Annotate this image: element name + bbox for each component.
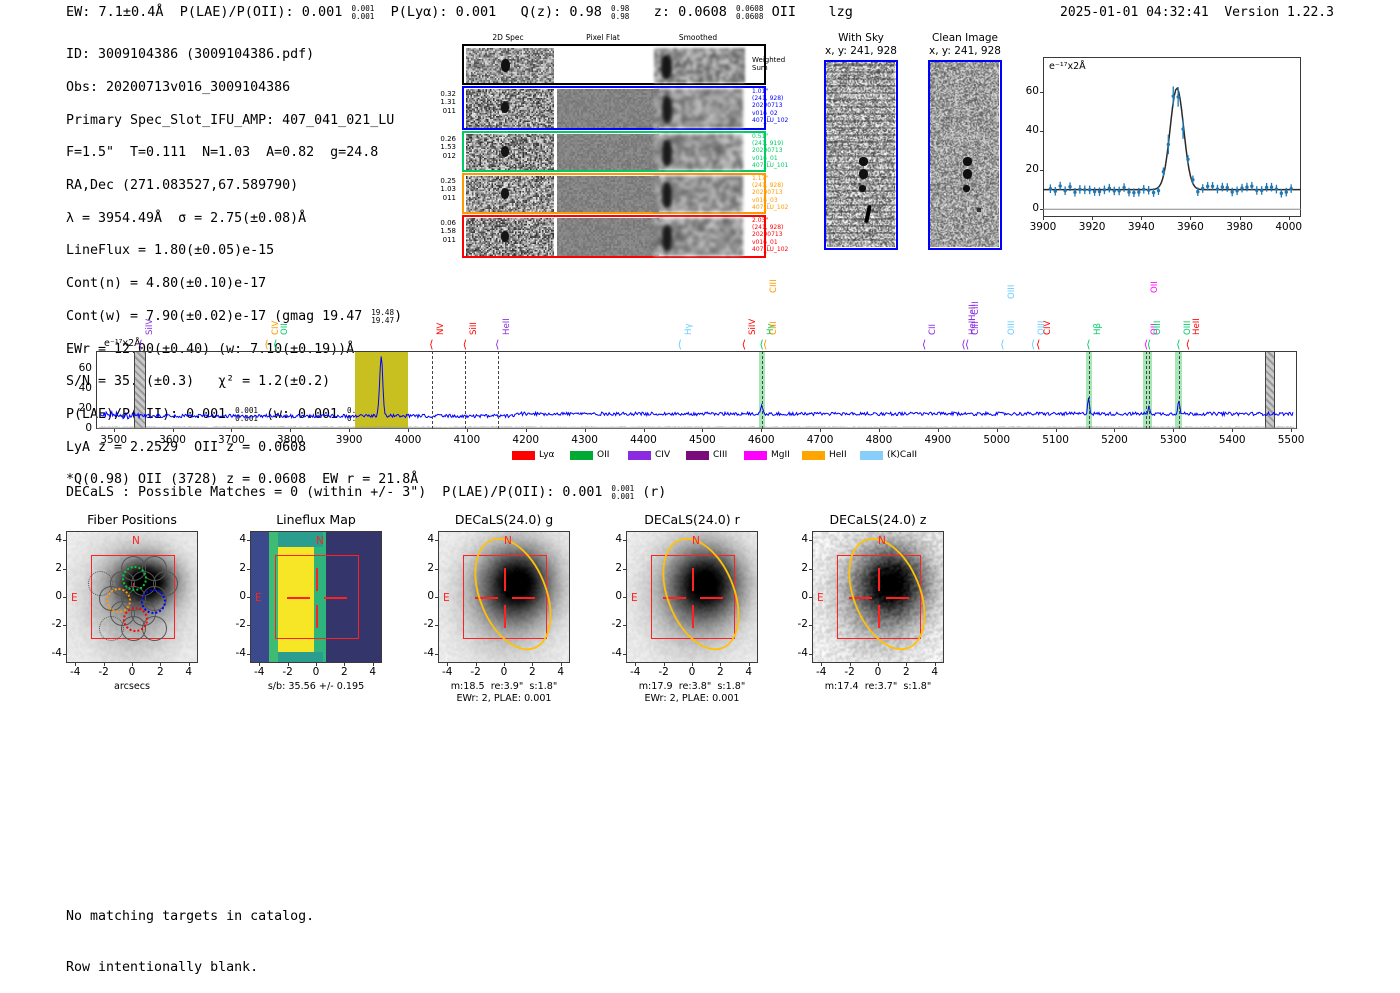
header-summary: EW: 7.1±0.4Å P(LAE)/P(OII): 0.001 0.0010… xyxy=(66,4,853,21)
spectrum-xtick-3800: 3800 xyxy=(264,434,316,446)
spec2d-column-title-3: Smoothed xyxy=(658,33,738,42)
spectrum-line-marker-OIII-18 xyxy=(1149,351,1150,429)
spectrum-line-label-high-HeII-4: HeII xyxy=(968,304,978,321)
decals-ytickmark xyxy=(623,569,626,570)
decals-ytickmark xyxy=(247,654,250,655)
sky-line xyxy=(826,204,896,206)
linefit-xtickmark xyxy=(1240,217,1241,220)
decals-panel-frame-1 xyxy=(66,531,198,663)
gmag-fraction: 19.4819.47 xyxy=(371,309,394,324)
spectrum-xtick-3500: 3500 xyxy=(88,434,140,446)
spec2d-raw-1 xyxy=(466,89,554,128)
decals-ytick-4-0: 4 xyxy=(602,533,622,545)
spectrum-line-label-Hγ-6: Hγ xyxy=(684,323,694,335)
linefit-xtick-3960: 3960 xyxy=(1166,221,1214,233)
decals-ytickmark xyxy=(435,654,438,655)
spec2d-emission-raw-1 xyxy=(501,102,509,113)
sky-line xyxy=(826,113,896,115)
decals-xtick-3-2: 0 xyxy=(488,666,520,678)
spectrum-xtickmark xyxy=(820,429,821,432)
decals-ytick-5-0: 4 xyxy=(788,533,808,545)
decals-compass-n-2: N xyxy=(316,535,324,547)
fiber-circle-14 xyxy=(99,616,124,641)
decals-ytickmark xyxy=(63,597,66,598)
decals-caption1-5: m:17.4 re:3.7" s:1.8" xyxy=(772,681,984,693)
spectrum-xtickmark xyxy=(938,429,939,432)
legend-swatch-OII xyxy=(570,451,593,460)
spectrum-xtickmark xyxy=(467,429,468,432)
cutout-title-2: Clean Image x, y: 241, 928 xyxy=(898,32,1032,57)
spectrum-xtickmark xyxy=(644,429,645,432)
spectrum-line-bracket: ⟨ xyxy=(428,338,435,351)
sky-line xyxy=(826,106,896,108)
cutout-emission-1-2 xyxy=(859,169,868,179)
linefit-xtickmark xyxy=(1043,217,1044,220)
info-radec: RA,Dec (271.083527,67.589790) xyxy=(66,178,418,194)
decals-ytick-5-3: -2 xyxy=(788,618,808,630)
sky-line xyxy=(826,225,896,227)
decals-caption2-3: EWr: 2, PLAE: 0.001 xyxy=(398,693,610,705)
spectrum-line-marker-OII-17 xyxy=(1146,351,1147,429)
cutout-frame-1 xyxy=(824,60,898,250)
spectrum-xtickmark xyxy=(761,429,762,432)
decals-compass-n-3: N xyxy=(504,535,512,547)
sky-line xyxy=(826,141,896,143)
decals-panel-title-2: Lineflux Map xyxy=(224,512,408,527)
spectrum-line-label-HeII-20: HeII xyxy=(1192,318,1202,335)
decals-ytick-3-2: 0 xyxy=(414,590,434,602)
spectrum-xtickmark xyxy=(1173,429,1174,432)
spectrum-ytick-0: 0 xyxy=(66,422,92,434)
spectrum-xtick-5100: 5100 xyxy=(1030,434,1082,446)
decals-xtickmark xyxy=(344,663,345,666)
decals-panel-title-4: DECaLS(24.0) r xyxy=(600,512,784,527)
spectrum-xtick-5200: 5200 xyxy=(1088,434,1140,446)
header-classification: OII lzg xyxy=(763,4,852,20)
sky-line xyxy=(826,148,896,150)
spectrum-xtickmark xyxy=(1114,429,1115,432)
decals-xtick-4-4: 4 xyxy=(733,666,765,678)
decals-xtick-5-4: 4 xyxy=(919,666,951,678)
spectrum-line-bracket: ⟨ xyxy=(494,338,501,351)
spectrum-ytick-60: 60 xyxy=(66,362,92,374)
spec2d-row-stats-4: 0.06 1.58 011 xyxy=(412,219,456,244)
decals-ytickmark xyxy=(809,597,812,598)
spec2d-column-title-1: 2D Spec xyxy=(468,33,548,42)
spec2d-weighted-sum-row xyxy=(462,44,766,85)
linefit-xtickmark xyxy=(1190,217,1191,220)
decals-ytick-2-1: 2 xyxy=(226,562,246,574)
spectrum-line-bracket: ⟨ xyxy=(677,338,684,351)
info-lambda-sigma: λ = 3954.49Å σ = 2.75(±0.08)Å xyxy=(66,211,418,227)
spectrum-line-bracket: ⟨ xyxy=(921,338,928,351)
sky-line xyxy=(826,134,896,136)
spectrum-line-label-SiII-4: SiII xyxy=(469,322,479,335)
decals-xtick-4-0: -4 xyxy=(619,666,651,678)
decals-xtick-5-3: 2 xyxy=(890,666,922,678)
decals-ytickmark xyxy=(623,625,626,626)
decals-xtick-1-2: 0 xyxy=(116,666,148,678)
spec2d-row-stats-3: 0.25 1.03 011 xyxy=(412,177,456,202)
spectrum-line-bracket: ⟨ xyxy=(999,338,1006,351)
decals-ytick-1-3: -2 xyxy=(42,618,62,630)
spectrum-xtick-3900: 3900 xyxy=(323,434,375,446)
spec2d-fiber-row-1 xyxy=(462,86,766,130)
spectrum-line-marker-OIII-19 xyxy=(1179,351,1180,429)
decals-ytickmark xyxy=(809,625,812,626)
decals-panel-title-5: DECaLS(24.0) z xyxy=(786,512,970,527)
decals-ytick-1-1: 2 xyxy=(42,562,62,574)
info-params: F=1.5" T=0.111 N=1.03 A=0.82 g=24.8 xyxy=(66,145,418,161)
spectrum-line-label-NV-3: NV xyxy=(436,323,446,335)
spec2d-raw-3 xyxy=(466,176,554,212)
decals-compass-e-4: E xyxy=(631,592,638,604)
decals-xtick-2-4: 4 xyxy=(357,666,389,678)
decals-ytickmark xyxy=(435,569,438,570)
spectrum-line-bracket: ⟨ xyxy=(1175,338,1182,351)
decals-caption1-1: arcsecs xyxy=(26,681,238,693)
spectrum-line-label-SiIV-7: SiIV xyxy=(748,319,758,335)
decals-xtickmark xyxy=(561,663,562,666)
footer-line-2: Row intentionally blank. xyxy=(66,959,314,976)
spectrum-xtickmark xyxy=(114,429,115,432)
decals-xtickmark xyxy=(476,663,477,666)
spec2d-pixelflat-1 xyxy=(557,89,659,128)
legend-swatch-HeII xyxy=(802,451,825,460)
linefit-ytick-60: 60 xyxy=(1013,85,1039,97)
sky-line xyxy=(826,120,896,122)
cutout-emission-2-3 xyxy=(963,185,970,192)
plae-fraction: 0.0010.001 xyxy=(351,6,374,21)
qz-fraction: 0.980.98 xyxy=(611,6,629,21)
legend-swatch-Lyα xyxy=(512,451,535,460)
decals-ytickmark xyxy=(63,654,66,655)
spectrum-xtick-3700: 3700 xyxy=(205,434,257,446)
sky-line xyxy=(826,197,896,199)
decals-xtickmark xyxy=(160,663,161,666)
spectrum-xtick-4100: 4100 xyxy=(441,434,493,446)
cutout-emission-1-1 xyxy=(859,157,868,166)
spectrum-line-label-high-CIII-0: CIII xyxy=(769,279,779,293)
spectrum-xtickmark xyxy=(997,429,998,432)
decals-panel-frame-4 xyxy=(626,531,758,663)
spec2d-ws-flat xyxy=(556,48,662,83)
decals-ytick-2-4: -4 xyxy=(226,647,246,659)
linefit-xtickmark xyxy=(1141,217,1142,220)
decals-xtick-3-1: -2 xyxy=(460,666,492,678)
info-cont-n: Cont(n) = 4.80(±0.10)e-17 xyxy=(66,276,418,292)
decals-ytick-5-1: 2 xyxy=(788,562,808,574)
spectrum-line-bracket: ⟨ xyxy=(1085,338,1092,351)
decals-ytick-2-0: 4 xyxy=(226,533,246,545)
decals-ytickmark xyxy=(623,654,626,655)
linefit-xtickmark xyxy=(1092,217,1093,220)
spectrum-line-label-Hβ-16: Hβ xyxy=(1093,323,1103,335)
decals-xtick-4-1: -2 xyxy=(648,666,680,678)
residual-artifact xyxy=(977,208,981,212)
decals-crosshair-top-2 xyxy=(316,568,317,591)
spectrum-xtickmark xyxy=(173,429,174,432)
footer-line-1: No matching targets in catalog. xyxy=(66,908,314,925)
spectrum-line-bracket: ⟨ xyxy=(964,338,971,351)
decals-xtick-2-0: -4 xyxy=(243,666,275,678)
decals-ytickmark xyxy=(63,569,66,570)
decals-xtick-3-4: 4 xyxy=(545,666,577,678)
sky-line xyxy=(826,85,896,87)
decals-xtick-1-4: 4 xyxy=(173,666,205,678)
legend-swatch-MgII xyxy=(744,451,767,460)
spectrum-line-marker-Hγ-8 xyxy=(762,351,763,429)
spectrum-xtick-5500: 5500 xyxy=(1265,434,1317,446)
decals-xtickmark xyxy=(635,663,636,666)
spectrum-line-marker-HeII-5 xyxy=(498,351,499,429)
spectrum-flux-units: e⁻¹⁷x2Å xyxy=(104,338,141,349)
spectrum-line-label-CIII-9: CIII xyxy=(769,321,779,335)
spectrum-line-bracket: ⟨ xyxy=(462,338,469,351)
decals-ytickmark xyxy=(809,654,812,655)
decals-compass-n-4: N xyxy=(692,535,700,547)
decals-ytick-2-3: -2 xyxy=(226,618,246,630)
sky-line xyxy=(826,71,896,73)
decals-crosshair-bottom-2 xyxy=(316,605,317,628)
header-plya-qz: P(Lyα): 0.001 Q(z): 0.98 xyxy=(374,4,610,20)
spectrum-trace xyxy=(96,351,1297,429)
linefit-ytick-20: 20 xyxy=(1013,163,1039,175)
decals-ytickmark xyxy=(247,625,250,626)
decals-xtickmark xyxy=(104,663,105,666)
decals-crosshair-right-2 xyxy=(324,597,347,598)
decals-xtick-2-3: 2 xyxy=(328,666,360,678)
spec2d-pixelflat-2 xyxy=(557,134,659,170)
decals-xtickmark xyxy=(447,663,448,666)
decals-compass-e-2: E xyxy=(255,592,262,604)
decals-xtick-1-1: -2 xyxy=(88,666,120,678)
decals-compass-e-1: E xyxy=(71,592,78,604)
legend-label-CIV: CIV xyxy=(655,450,670,460)
legend-label-OII: OII xyxy=(597,450,609,460)
decals-xtick-1-0: -4 xyxy=(59,666,91,678)
sky-line xyxy=(826,78,896,80)
decals-ytickmark xyxy=(435,597,438,598)
spectrum-xtickmark xyxy=(702,429,703,432)
decals-ytickmark xyxy=(247,597,250,598)
spec2d-row-info-4: 2.03" (241, 928) 20200713 v016_01 407_LU… xyxy=(752,217,788,253)
sky-line xyxy=(826,127,896,129)
linefit-xtick-3980: 3980 xyxy=(1216,221,1264,233)
decals-xtick-4-3: 2 xyxy=(704,666,736,678)
decals-compass-e-5: E xyxy=(817,592,824,604)
spec2d-weighted-sum-label: Weighted Sum xyxy=(752,56,785,73)
sky-line xyxy=(826,218,896,220)
spectrum-line-label-OIII-18: OIII xyxy=(1153,321,1163,335)
decals-xtickmark xyxy=(850,663,851,666)
spectrum-xtick-3600: 3600 xyxy=(147,434,199,446)
decals-ytick-3-0: 4 xyxy=(414,533,434,545)
spectrum-line-bracket: ⟨ xyxy=(272,338,279,351)
spec2d-fiber-row-3 xyxy=(462,173,766,214)
decals-xtickmark xyxy=(878,663,879,666)
decals-heading: DECaLS : Possible Matches = 0 (within +/… xyxy=(66,485,666,501)
decals-panel-frame-3 xyxy=(438,531,570,663)
spectrum-line-label-SiIV-0: SiIV xyxy=(145,319,155,335)
spectrum-xtick-4400: 4400 xyxy=(618,434,670,446)
decals-xtickmark xyxy=(259,663,260,666)
cutout-image-2 xyxy=(930,62,999,247)
sky-line xyxy=(826,99,896,101)
cutout-emission-2-2 xyxy=(963,169,972,179)
decals-xtickmark xyxy=(373,663,374,666)
decals-ytickmark xyxy=(247,540,250,541)
decals-compass-n-5: N xyxy=(878,535,886,547)
spec2d-emission-smoothed-1 xyxy=(662,96,672,123)
decals-ytickmark xyxy=(809,569,812,570)
spectrum-xtick-4700: 4700 xyxy=(794,434,846,446)
decals-ytickmark xyxy=(63,540,66,541)
spec2d-emission-smoothed-4 xyxy=(662,225,672,252)
decals-plae-fraction: 0.0010.001 xyxy=(611,486,634,501)
header-ew-plae: EW: 7.1±0.4Å P(LAE)/P(OII): 0.001 xyxy=(66,4,350,20)
cutout-emission-1-3 xyxy=(859,185,866,192)
info-cont-w: Cont(w) = 7.90(±0.02)e-17 (gmag 19.47 19… xyxy=(66,309,418,325)
spec2d-raw-4 xyxy=(466,218,554,256)
spectrum-xtick-4200: 4200 xyxy=(500,434,552,446)
legend-swatch-CIV xyxy=(628,451,651,460)
decals-xtick-5-1: -2 xyxy=(834,666,866,678)
decals-xtickmark xyxy=(504,663,505,666)
spec2d-row-info-2: 0.51" (241, 919) 20200713 v016_01 407_LU… xyxy=(752,133,788,169)
spectrum-xtick-4600: 4600 xyxy=(735,434,787,446)
spectrum-xtickmark xyxy=(526,429,527,432)
decals-xtick-2-1: -2 xyxy=(272,666,304,678)
sky-line xyxy=(826,64,896,66)
spectrum-line-marker-SiII-4 xyxy=(465,351,466,429)
decals-ytick-3-4: -4 xyxy=(414,647,434,659)
decals-caption1-3: m:18.5 re:3.9" s:1.8" xyxy=(398,681,610,693)
spectrum-line-bracket: ⟨ xyxy=(137,338,144,351)
decals-crosshair-left-2 xyxy=(287,597,310,598)
decals-xtickmark xyxy=(132,663,133,666)
spectrum-xtick-5400: 5400 xyxy=(1206,434,1258,446)
spectrum-line-bracket: ⟨ xyxy=(762,338,769,351)
decals-compass-n-1: N xyxy=(132,535,140,547)
spectrum-xtickmark xyxy=(585,429,586,432)
spectrum-line-marker-Hβ-16 xyxy=(1089,351,1090,429)
spectrum-line-label-OII-2: OII xyxy=(280,323,290,335)
decals-ytickmark xyxy=(435,540,438,541)
spectrum-xtickmark xyxy=(231,429,232,432)
spectrum-line-bracket: ⟨ xyxy=(1146,338,1153,351)
linefit-data-overlay xyxy=(1043,57,1301,217)
spec2d-row-stats-2: 0.26 1.53 012 xyxy=(412,135,456,160)
spectrum-xtickmark xyxy=(349,429,350,432)
spec2d-emission-raw-4 xyxy=(501,231,509,242)
decals-xtickmark xyxy=(75,663,76,666)
spec2d-fiber-row-4 xyxy=(462,215,766,258)
decals-ytickmark xyxy=(435,625,438,626)
decals-panel-title-3: DECaLS(24.0) g xyxy=(412,512,596,527)
spectrum-line-label-CIII-12: CIII xyxy=(971,321,981,335)
decals-ellipse-overlay-3 xyxy=(439,532,570,663)
decals-ytick-1-0: 4 xyxy=(42,533,62,545)
decals-compass-e-3: E xyxy=(443,592,450,604)
decals-caption1-4: m:17.9 re:3.8" s:1.8" xyxy=(586,681,798,693)
decals-xtickmark xyxy=(906,663,907,666)
decals-ytick-5-2: 0 xyxy=(788,590,808,602)
decals-ytickmark xyxy=(623,597,626,598)
footer-note: No matching targets in catalog. Row inte… xyxy=(66,874,314,993)
spectrum-xtick-4300: 4300 xyxy=(559,434,611,446)
spec2d-emission-smoothed-3 xyxy=(662,182,672,207)
linefit-xtick-4000: 4000 xyxy=(1265,221,1313,233)
spec2d-pixelflat-3 xyxy=(557,176,659,212)
info-id: ID: 3009104386 (3009104386.pdf) xyxy=(66,47,418,63)
spec2d-pixelflat-4 xyxy=(557,218,659,256)
decals-ytick-4-4: -4 xyxy=(602,647,622,659)
spec2d-raw-2 xyxy=(466,134,554,170)
legend-label-CIII: CIII xyxy=(713,450,727,460)
spec2d-column-title-2: Pixel Flat xyxy=(563,33,643,42)
spec2d-emission-smoothed-2 xyxy=(662,140,672,165)
decals-xtickmark xyxy=(532,663,533,666)
decals-ytick-4-1: 2 xyxy=(602,562,622,574)
header-z: z: 0.0608 xyxy=(629,4,735,20)
decals-xtickmark xyxy=(720,663,721,666)
info-obs: Obs: 20200713v016_3009104386 xyxy=(66,80,418,96)
spectrum-xtickmark xyxy=(1056,429,1057,432)
spectrum-xtickmark xyxy=(879,429,880,432)
cutout-frame-2 xyxy=(928,60,1002,250)
spec2d-ws-emission-smoothed xyxy=(661,55,672,79)
spectrum-xtick-5000: 5000 xyxy=(971,434,1023,446)
decals-xtickmark xyxy=(189,663,190,666)
decals-ytick-1-4: -4 xyxy=(42,647,62,659)
spec2d-emission-raw-2 xyxy=(501,146,509,157)
legend-label-(K)CaII: (K)CaII xyxy=(887,450,917,460)
decals-xtickmark xyxy=(692,663,693,666)
spectrum-ytick-40: 40 xyxy=(66,382,92,394)
spectrum-line-label-CII-10: CII xyxy=(928,324,938,335)
spectrum-xtickmark xyxy=(290,429,291,432)
spectrum-xtick-4500: 4500 xyxy=(676,434,728,446)
spec2d-row-info-1: 1.01" (241, 928) 20200713 v016_02 407_LU… xyxy=(752,88,788,124)
timestamp-version: 2025-01-01 04:32:41 Version 1.22.3 xyxy=(1060,5,1334,20)
decals-caption2-4: EWr: 2, PLAE: 0.001 xyxy=(586,693,798,705)
decals-xtick-4-2: 0 xyxy=(676,666,708,678)
info-primary-slot: Primary Spec_Slot_IFU_AMP: 407_041_021_L… xyxy=(66,113,418,129)
spectrum-xtick-4000: 4000 xyxy=(382,434,434,446)
decals-xtick-2-2: 0 xyxy=(300,666,332,678)
decals-xtick-1-3: 2 xyxy=(144,666,176,678)
decals-xtickmark xyxy=(749,663,750,666)
spec2d-ws-emission xyxy=(501,59,510,72)
decals-panel-frame-2 xyxy=(250,531,382,663)
z-fraction: 0.06080.0608 xyxy=(736,6,763,21)
decals-xtickmark xyxy=(664,663,665,666)
spec2d-row-stats-1: 0.32 1.31 011 xyxy=(412,90,456,115)
decals-ytick-1-2: 0 xyxy=(42,590,62,602)
spec2d-emission-raw-3 xyxy=(501,188,509,199)
legend-label-MgII: MgII xyxy=(771,450,790,460)
sky-line xyxy=(826,92,896,94)
spectrum-xtick-4800: 4800 xyxy=(853,434,905,446)
spectrum-line-label-CIV-15: CIV xyxy=(1043,321,1053,335)
decals-ytick-3-1: 2 xyxy=(414,562,434,574)
decals-xtick-5-0: -4 xyxy=(805,666,837,678)
linefit-xtick-3920: 3920 xyxy=(1068,221,1116,233)
info-lineflux: LineFlux = 1.80(±0.05)e-15 xyxy=(66,243,418,259)
fiber-highlight-1 xyxy=(122,566,147,591)
spec2d-row-info-3: 1.17" (241, 928) 20200713 v016_03 407_LU… xyxy=(752,175,788,211)
